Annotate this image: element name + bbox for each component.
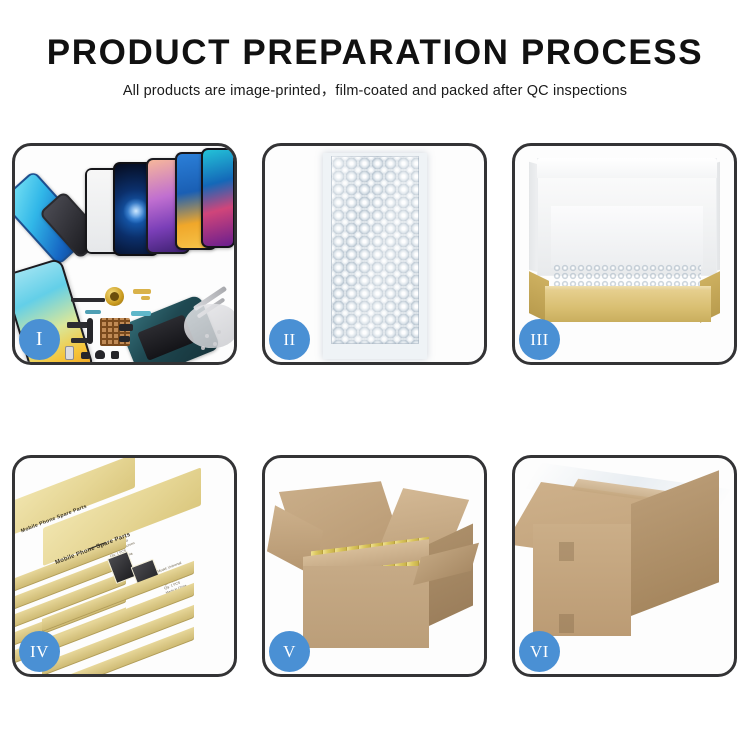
hand-icon xyxy=(184,304,234,348)
process-step-grid: I II III xyxy=(12,143,738,678)
box-lid-top-edge xyxy=(537,158,717,178)
flex-cable-icon xyxy=(87,318,93,344)
carton-tab xyxy=(559,614,574,633)
part-icon xyxy=(111,351,119,359)
part-icon xyxy=(81,352,90,359)
step-badge-3: III xyxy=(519,319,560,360)
box-front-panel xyxy=(545,290,711,322)
step-badge-4: IV xyxy=(19,631,60,672)
step-badge-1: I xyxy=(19,319,60,360)
process-step-panel-5[interactable]: V xyxy=(262,455,487,677)
header: PRODUCT PREPARATION PROCESS All products… xyxy=(0,0,750,99)
carton-front-panel xyxy=(533,524,631,636)
foam-sheet-icon xyxy=(551,206,703,268)
coil-part-icon xyxy=(105,287,124,306)
page-title: PRODUCT PREPARATION PROCESS xyxy=(0,0,750,70)
part-icon xyxy=(67,322,89,328)
step-badge-2: II xyxy=(269,319,310,360)
flex-cable-icon xyxy=(133,289,151,294)
flex-cable-icon xyxy=(131,311,151,316)
phone-icon xyxy=(201,148,234,248)
flex-cable-icon xyxy=(85,310,101,314)
process-step-panel-2[interactable]: II xyxy=(262,143,487,365)
part-icon xyxy=(71,298,105,302)
process-step-panel-6[interactable]: VI xyxy=(512,455,737,677)
part-icon xyxy=(95,350,105,359)
part-icon xyxy=(119,336,130,342)
product-preparation-infographic: PRODUCT PREPARATION PROCESS All products… xyxy=(0,0,750,750)
step-badge-5: V xyxy=(269,631,310,672)
step-badge-6: VI xyxy=(519,631,560,672)
page-subtitle: All products are image-printed，film-coat… xyxy=(0,70,750,99)
process-step-panel-1[interactable]: I xyxy=(12,143,237,365)
flex-cable-icon xyxy=(141,296,150,300)
film-sheen xyxy=(332,156,418,342)
part-icon xyxy=(119,324,133,331)
process-step-panel-3[interactable]: III xyxy=(512,143,737,365)
carton-tab xyxy=(559,542,574,561)
carton-front-panel xyxy=(303,566,429,648)
battery-icon xyxy=(65,346,74,360)
process-step-panel-4[interactable]: Mobile Phone Spare Parts Model: Universa… xyxy=(12,455,237,677)
